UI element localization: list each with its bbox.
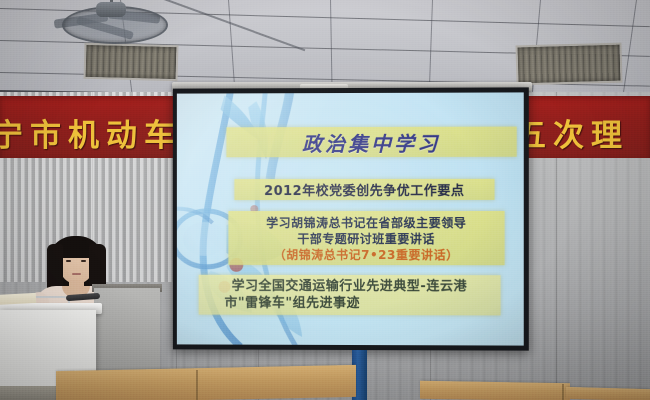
slide-title-block: 政治集中学习	[226, 127, 516, 158]
slide-bullet-1: 2012年校党委创先争优工作要点	[264, 180, 464, 199]
mouth	[72, 273, 81, 275]
classroom-photo-scene: 宁市机动车 五次理	[0, 0, 650, 400]
slide-bullet-1-block: 2012年校党委创先争优工作要点	[234, 179, 494, 200]
banner-left-text: 宁市机动车	[0, 110, 178, 155]
desk-seam	[196, 370, 198, 400]
slide-bullet-3-block: 学习全国交通运输行业先进典型-连云港 市"雷锋车"组先进事迹	[199, 275, 501, 316]
wooden-desk	[56, 365, 356, 400]
projection-screen: 政治集中学习 2012年校党委创先争优工作要点 学习胡锦涛总书记在省部级主要领导…	[173, 87, 529, 350]
red-banner-left: 宁市机动车	[0, 96, 178, 158]
slide-title: 政治集中学习	[302, 127, 440, 156]
eye-right	[81, 260, 86, 262]
wooden-desk	[420, 381, 570, 400]
ceiling-fan	[52, 0, 172, 60]
slide-bullet-2-line-3: （胡锦涛总书记7•23重要讲话）	[274, 247, 459, 262]
eye-left	[66, 260, 71, 262]
slide-bullet-2-line-1: 学习胡锦涛总书记在省部级主要领导	[266, 215, 466, 230]
wooden-desk	[566, 387, 650, 400]
desk-seam	[562, 384, 564, 400]
slide-bullet-2-line-2: 干部专题研讨班重要讲话	[297, 231, 435, 246]
slide-bullet-2-block: 学习胡锦涛总书记在省部级主要领导 干部专题研讨班重要讲话 （胡锦涛总书记7•23…	[228, 211, 504, 265]
ceiling-light-panel	[515, 43, 622, 86]
slide-bullet-3-line-1: 学习全国交通运输行业先进典型-连云港	[232, 278, 467, 295]
slide-bullet-3-line-2: 市"雷锋车"组先进事迹	[224, 295, 360, 312]
projected-slide: 政治集中学习 2012年校党委创先争优工作要点 学习胡锦涛总书记在省部级主要领导…	[177, 92, 524, 345]
banner-right-text: 五次理	[515, 110, 629, 155]
